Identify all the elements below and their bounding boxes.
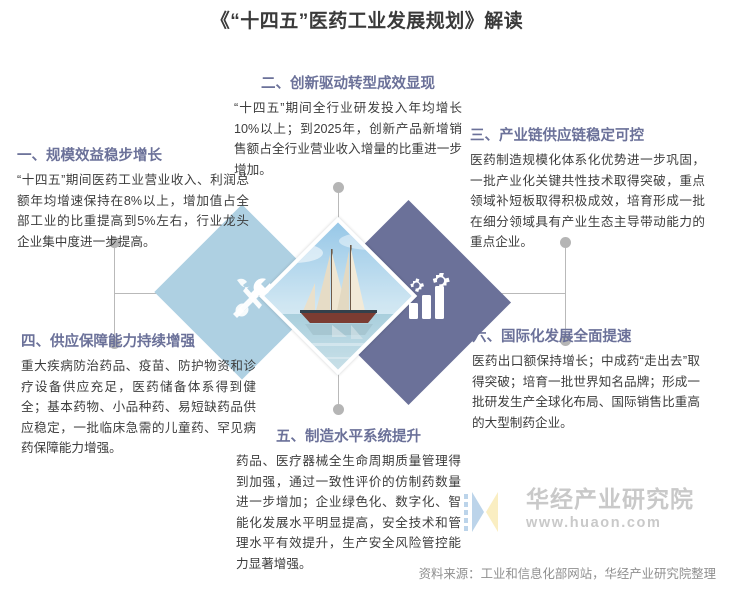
section-3: 三、产业链供应链稳定可控 医药制造规模化体系化优势进一步巩固，一批产业化关键共性… [470, 126, 705, 253]
section-6-body: 医药出口额保持增长；中成药“走出去”取得突破；培育一批世界知名品牌；形成一批研发… [472, 351, 700, 433]
watermark-url: www.huaon.com [526, 513, 726, 533]
watermark-company-name: 华经产业研究院 [526, 485, 726, 513]
connector-dot-section-2 [333, 182, 344, 193]
section-6-heading: 六、国际化发展全面提速 [472, 327, 700, 347]
watermark-text: 华经产业研究院 www.huaon.com [526, 485, 726, 533]
section-6: 六、国际化发展全面提速 医药出口额保持增长；中成药“走出去”取得突破；培育一批世… [472, 327, 700, 433]
section-1-body: “十四五”期间医药工业营业收入、利润总额年均增速保持在8%以上，增加值占全部工业… [17, 170, 249, 252]
section-5-body: 药品、医疗器械全生命周期质量管理得到加强，通过一致性评价的仿制药数量进一步增加；… [236, 451, 461, 574]
source-note: 资料来源：工业和信息化部网站，华经产业研究院整理 [0, 565, 716, 583]
section-1-heading: 一、规模效益稳步增长 [17, 146, 249, 166]
section-4-body: 重大疾病防治药品、疫苗、防护物资和诊疗设备供应充足，医药储备体系得到健全；基本药… [21, 356, 256, 459]
huaon-logo-mark [464, 488, 518, 536]
infographic-page: 《“十四五”医药工业发展规划》解读 [0, 0, 734, 606]
section-5: 五、制造水平系统提升 药品、医疗器械全生命周期质量管理得到加强，通过一致性评价的… [236, 427, 461, 574]
section-2: 二、创新驱动转型成效显现 “十四五”期间全行业研发投入年均增长10%以上；到20… [234, 74, 462, 180]
section-5-heading: 五、制造水平系统提升 [236, 427, 461, 447]
section-4-heading: 四、供应保障能力持续增强 [21, 332, 256, 352]
section-3-body: 医药制造规模化体系化优势进一步巩固，一批产业化关键共性技术取得突破，重点领域补短… [470, 150, 705, 253]
section-3-heading: 三、产业链供应链稳定可控 [470, 126, 705, 146]
section-2-heading: 二、创新驱动转型成效显现 [234, 74, 462, 94]
watermark-logo: 华经产业研究院 www.huaon.com [464, 484, 726, 546]
page-title: 《“十四五”医药工业发展规划》解读 [0, 8, 734, 36]
section-1: 一、规模效益稳步增长 “十四五”期间医药工业营业收入、利润总额年均增速保持在8%… [17, 146, 249, 252]
section-2-body: “十四五”期间全行业研发投入年均增长10%以上；到2025年，创新产品新增销售额… [234, 98, 462, 180]
section-4: 四、供应保障能力持续增强 重大疾病防治药品、疫苗、防护物资和诊疗设备供应充足，医… [21, 332, 256, 459]
